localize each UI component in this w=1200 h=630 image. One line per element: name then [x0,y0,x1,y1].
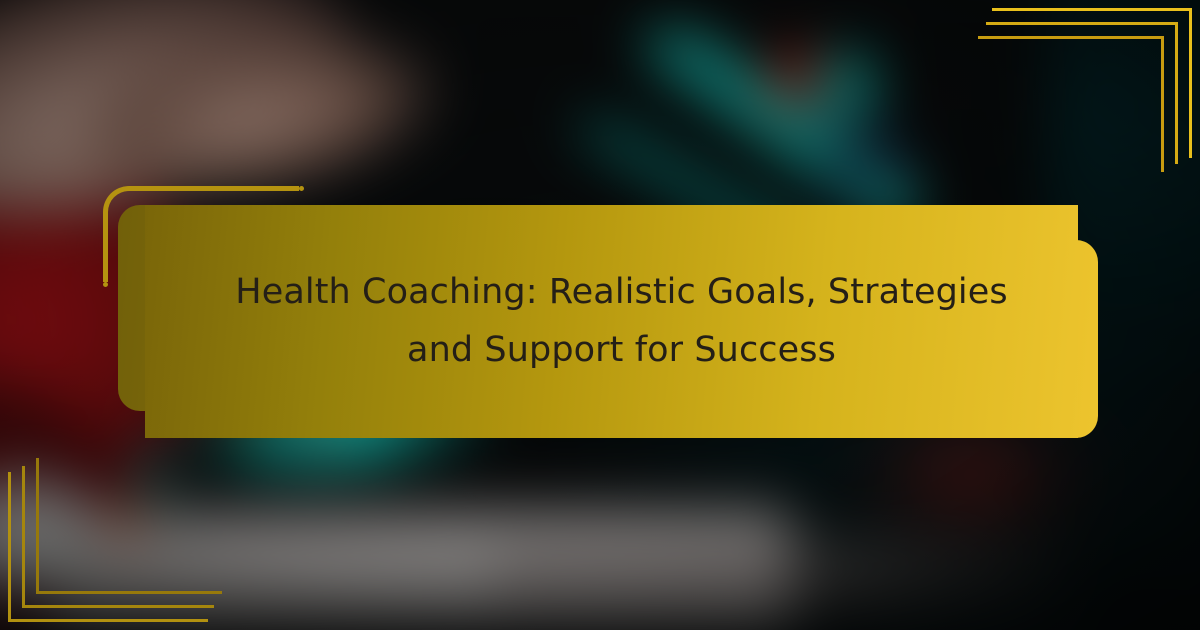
page-title-line-1: Health Coaching: Realistic Goals, Strate… [235,271,1007,315]
page-title: Health Coaching: Realistic Goals, Strate… [145,205,1098,438]
share-card-canvas: Health Coaching: Realistic Goals, Strate… [0,0,1200,630]
title-card-group: Health Coaching: Realistic Goals, Strate… [0,0,1200,630]
page-title-line-2: and Support for Success [407,329,836,373]
